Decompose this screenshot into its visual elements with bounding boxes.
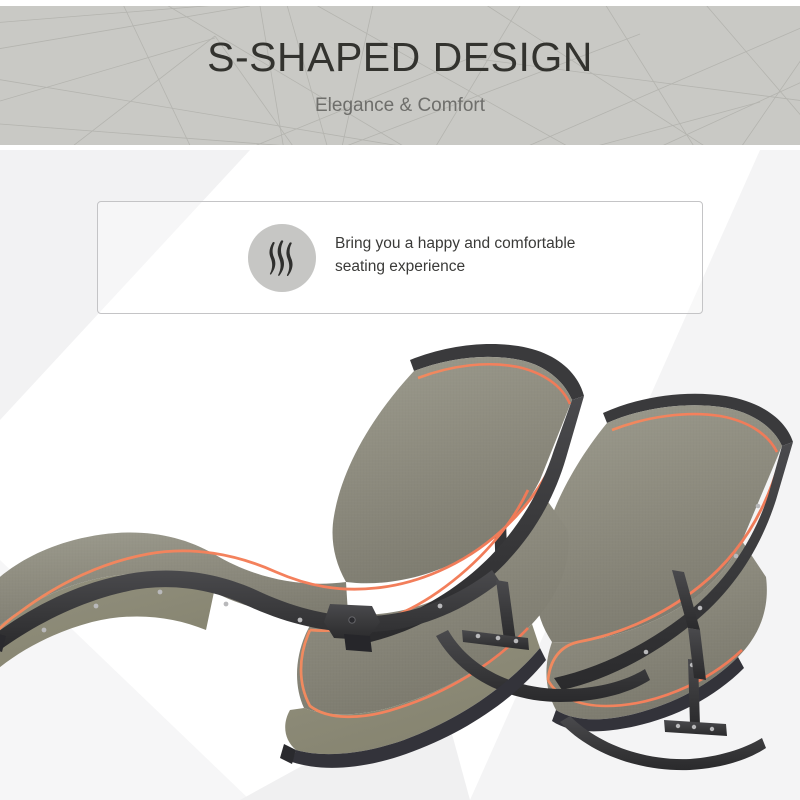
rivet	[734, 554, 739, 559]
rivet	[710, 727, 714, 731]
rivet	[42, 628, 47, 633]
rear-lounger	[536, 394, 793, 770]
feature-description-line-2: seating experience	[335, 255, 665, 278]
rivet	[298, 618, 303, 623]
rivet	[476, 634, 481, 639]
page-title: S-SHAPED DESIGN	[207, 37, 593, 78]
rivet	[676, 724, 680, 728]
comfort-waves-icon	[265, 238, 299, 278]
product-photo	[0, 330, 800, 800]
rivet	[158, 590, 163, 595]
rivet	[644, 650, 649, 655]
rivet	[698, 606, 703, 611]
front-lounger	[0, 344, 650, 768]
feature-card: Bring you a happy and comfortable seatin…	[97, 201, 703, 314]
rivet	[756, 504, 761, 509]
hinge-bolt	[349, 617, 355, 623]
rivet	[514, 639, 519, 644]
feature-description-line-1: Bring you a happy and comfortable	[335, 235, 575, 252]
rivet	[692, 725, 696, 729]
rivet	[496, 636, 501, 641]
header-band: S-SHAPED DESIGN Elegance & Comfort	[0, 6, 800, 145]
rivet	[224, 602, 229, 607]
rivet	[94, 604, 99, 609]
page-subtitle: Elegance & Comfort	[315, 96, 485, 115]
rivet	[438, 604, 443, 609]
product-banner: S-SHAPED DESIGN Elegance & Comfort Bring…	[0, 0, 800, 800]
feature-description: Bring you a happy and comfortable seatin…	[335, 232, 665, 278]
front-lounger-hinge-pin-block	[344, 634, 372, 652]
feature-icon-badge	[248, 224, 316, 292]
header-text-block: S-SHAPED DESIGN Elegance & Comfort	[0, 6, 800, 145]
